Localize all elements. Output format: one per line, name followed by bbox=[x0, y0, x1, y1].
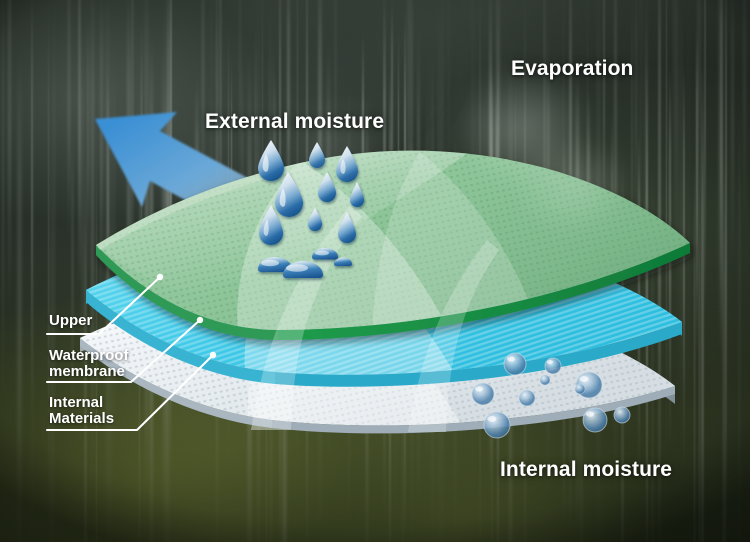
bubble bbox=[583, 408, 607, 432]
bubble bbox=[540, 375, 550, 385]
bubble bbox=[484, 412, 510, 438]
bubble bbox=[519, 390, 535, 406]
bubble bbox=[614, 407, 630, 423]
bubble bbox=[504, 353, 526, 375]
bubble bbox=[545, 358, 561, 374]
bubble bbox=[575, 384, 585, 394]
fabric-layers-illustration bbox=[0, 0, 750, 542]
bubble bbox=[472, 383, 494, 405]
diagram-canvas: Evaporation External moisture Internal m… bbox=[0, 0, 750, 542]
